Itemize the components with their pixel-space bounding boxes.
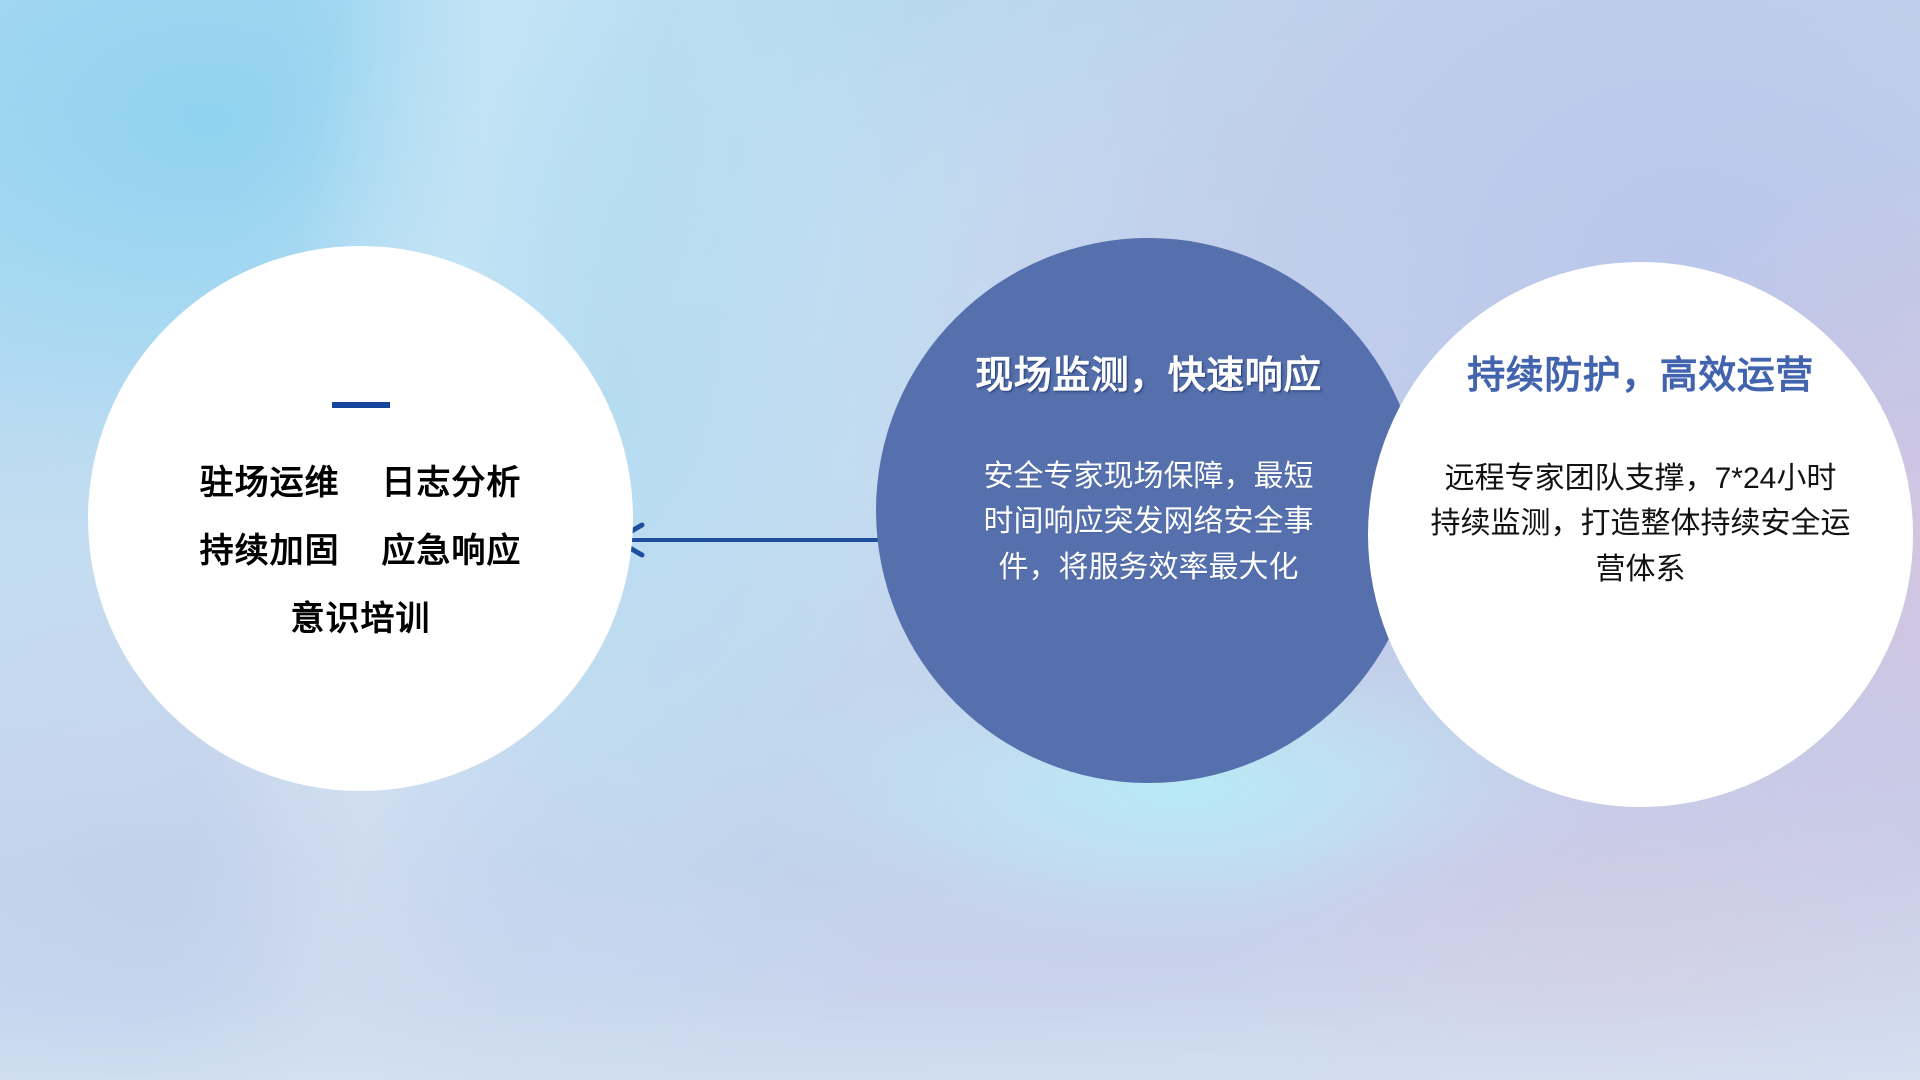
blue-circle-body-text: 安全专家现场保障，最短时间响应突发网络安全事件，将服务效率最大化 xyxy=(979,454,1319,591)
slide-canvas: 现场监测，快速响应 安全专家现场保障，最短时间响应突发网络安全事件，将服务效率最… xyxy=(0,0,1920,1080)
white-circle-protection-content: 持续防护，高效运营 远程专家团队支撑，7*24小时持续监测，打造整体持续安全运营… xyxy=(1368,262,1913,807)
right-circle-body-text: 远程专家团队支撑，7*24小时持续监测，打造整体持续安全运营体系 xyxy=(1431,456,1851,593)
blue-circle-content: 现场监测，快速响应 安全专家现场保障，最短时间响应突发网络安全事件，将服务效率最… xyxy=(876,238,1421,783)
right-circle-title: 持续防护，高效运营 xyxy=(1467,356,1814,398)
service-line-3: 意识培训 xyxy=(291,602,431,636)
white-circle-services-content: 驻场运维 日志分析 持续加固 应急响应 意识培训 xyxy=(88,246,633,791)
divider-dash-icon xyxy=(332,402,390,408)
service-line-2: 持续加固 应急响应 xyxy=(200,534,522,568)
service-line-1: 驻场运维 日志分析 xyxy=(200,466,522,500)
blue-circle-title: 现场监测，快速响应 xyxy=(975,356,1322,398)
connector-arrow-left-icon xyxy=(600,520,900,560)
